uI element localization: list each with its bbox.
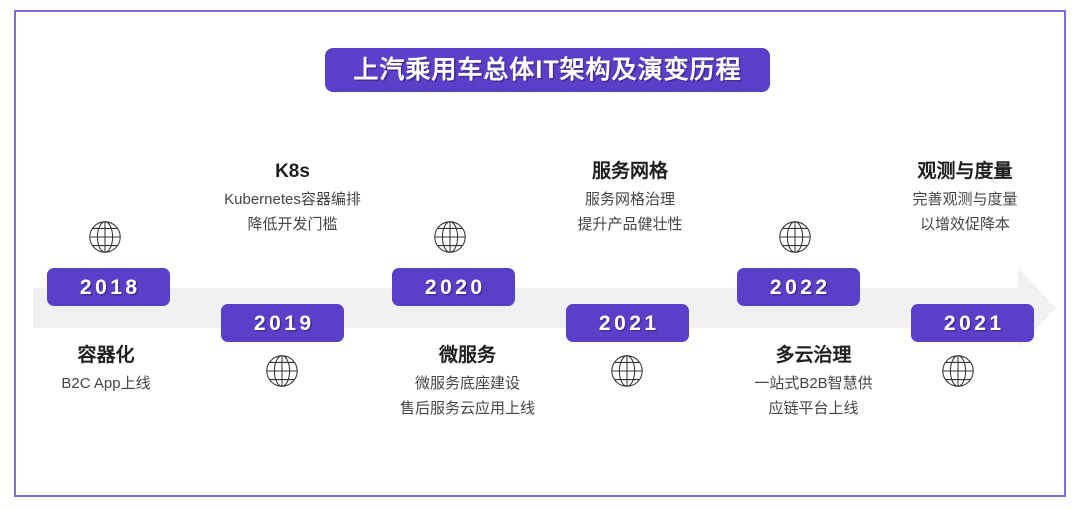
- globe-icon: [86, 218, 124, 256]
- milestone-heading: 观测与度量: [870, 160, 1060, 184]
- milestone-description: B2C App上线: [0, 372, 212, 397]
- year-badge-2021-mesh[interactable]: 2021: [566, 304, 689, 342]
- milestone-desc-line: 提升产品健壮性: [525, 213, 735, 238]
- milestone-description: 一站式B2B智慧供 应链平台上线: [697, 372, 930, 422]
- milestone-description: 微服务底座建设 售后服务云应用上线: [345, 372, 590, 422]
- milestone-text-2021-mesh: 服务网格 服务网格治理 提升产品健壮性: [525, 160, 735, 237]
- milestone-heading: 服务网格: [525, 160, 735, 184]
- milestone-text-2019: K8s Kubernetes容器编排 降低开发门槛: [180, 160, 405, 237]
- year-label: 2022: [766, 277, 830, 298]
- milestone-heading: 多云治理: [697, 344, 930, 368]
- milestone-desc-line: 服务网格治理: [525, 188, 735, 213]
- globe-icon: [431, 218, 469, 256]
- milestone-desc-line: B2C App上线: [0, 372, 212, 397]
- page-title: 上汽乘用车总体IT架构及演变历程: [353, 58, 741, 83]
- milestone-description: 服务网格治理 提升产品健壮性: [525, 188, 735, 238]
- milestone-text-2018: 容器化 B2C App上线: [0, 344, 212, 397]
- milestone-desc-line: 以增效促降本: [870, 213, 1060, 238]
- milestone-desc-line: 应链平台上线: [697, 397, 930, 422]
- globe-icon: [939, 352, 977, 390]
- milestone-text-2020: 微服务 微服务底座建设 售后服务云应用上线: [345, 344, 590, 421]
- globe-icon: [263, 352, 301, 390]
- year-badge-2019[interactable]: 2019: [221, 304, 344, 342]
- milestone-desc-line: 一站式B2B智慧供: [697, 372, 930, 397]
- year-label: 2021: [595, 313, 659, 334]
- milestone-text-2021-observe: 观测与度量 完善观测与度量 以增效促降本: [870, 160, 1060, 237]
- year-label: 2019: [250, 313, 314, 334]
- timeline-bar: [33, 288, 1018, 328]
- milestone-description: Kubernetes容器编排 降低开发门槛: [180, 188, 405, 238]
- year-badge-2018[interactable]: 2018: [47, 268, 170, 306]
- milestone-desc-line: Kubernetes容器编排: [180, 188, 405, 213]
- infographic-canvas: 上汽乘用车总体IT架构及演变历程 2018 容器化 B2C App上线 K8s …: [0, 0, 1080, 510]
- year-badge-2022[interactable]: 2022: [737, 268, 860, 306]
- year-label: 2021: [940, 313, 1004, 334]
- year-badge-2020[interactable]: 2020: [392, 268, 515, 306]
- milestone-desc-line: 微服务底座建设: [345, 372, 590, 397]
- milestone-heading: 容器化: [0, 344, 212, 368]
- page-title-badge: 上汽乘用车总体IT架构及演变历程: [325, 48, 770, 92]
- globe-icon: [608, 352, 646, 390]
- milestone-desc-line: 降低开发门槛: [180, 213, 405, 238]
- globe-icon: [776, 218, 814, 256]
- milestone-desc-line: 售后服务云应用上线: [345, 397, 590, 422]
- milestone-description: 完善观测与度量 以增效促降本: [870, 188, 1060, 238]
- milestone-desc-line: 完善观测与度量: [870, 188, 1060, 213]
- milestone-text-2022: 多云治理 一站式B2B智慧供 应链平台上线: [697, 344, 930, 421]
- year-badge-2021-observe[interactable]: 2021: [911, 304, 1034, 342]
- milestone-heading: K8s: [180, 160, 405, 184]
- year-label: 2020: [421, 277, 485, 298]
- milestone-heading: 微服务: [345, 344, 590, 368]
- year-label: 2018: [76, 277, 140, 298]
